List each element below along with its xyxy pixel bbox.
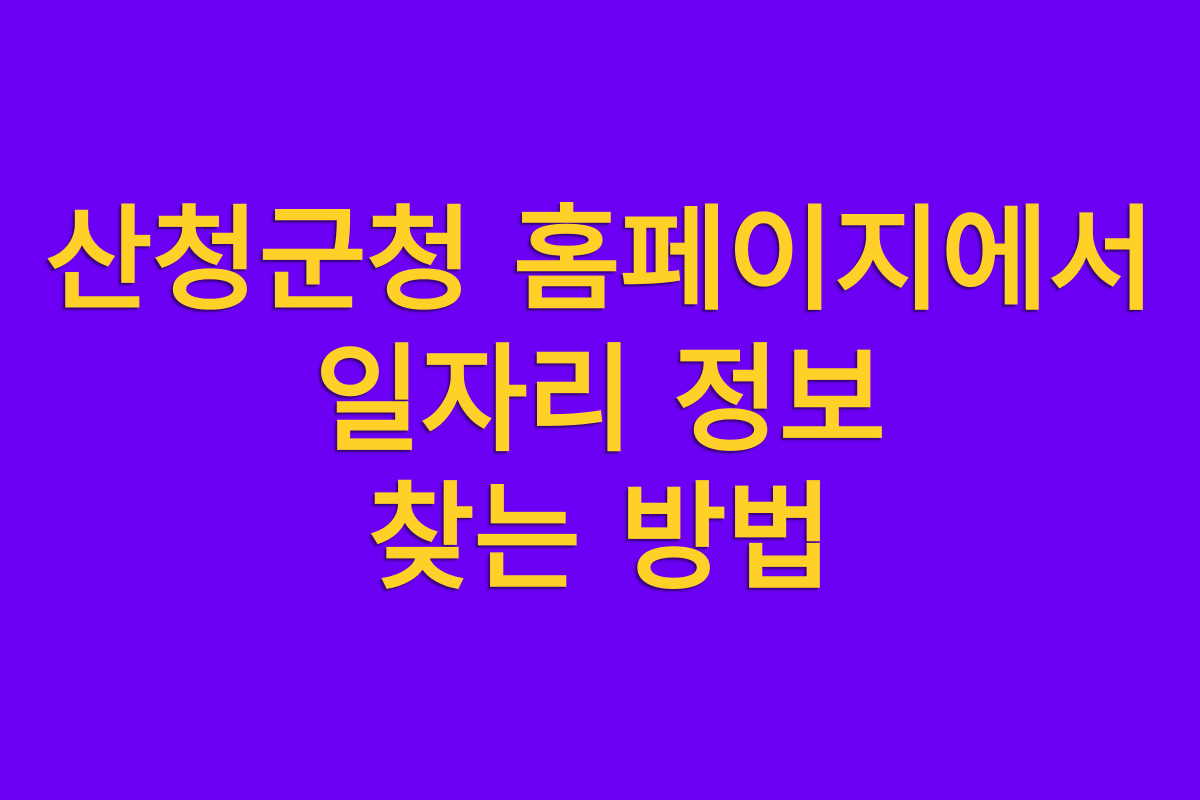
poster-canvas: 산청군청 홈페이지에서 일자리 정보 찾는 방법 [0,0,1200,800]
headline-line-3: 찾는 방법 [0,481,1200,597]
headline-line-1: 산청군청 홈페이지에서 [0,204,1200,317]
headline-block: 산청군청 홈페이지에서 일자리 정보 찾는 방법 [0,204,1200,597]
headline-line-2: 일자리 정보 [0,343,1200,459]
